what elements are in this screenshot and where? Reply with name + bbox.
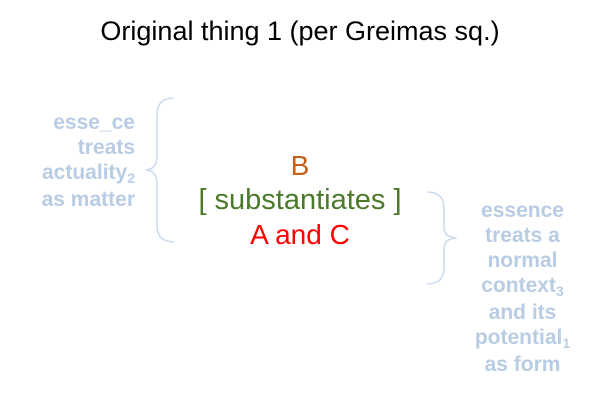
right-annotation-line-6-subscript: 1 xyxy=(562,335,570,351)
left-annotation-line-2: treats xyxy=(0,135,135,160)
right-annotation-line-2: treats a xyxy=(455,223,590,248)
right-annotation-block: essence treats a normal context3 and its… xyxy=(455,198,590,377)
formula-block: B [ substantiates ] A and C xyxy=(160,150,440,252)
left-annotation-block: esse_ce treats actuality2 as matter xyxy=(0,110,135,212)
left-annotation-line-3-subscript: 2 xyxy=(127,170,135,186)
left-annotation-line-4: as matter xyxy=(0,187,135,212)
right-annotation-line-4: context3 xyxy=(455,273,590,300)
right-annotation-line-3: normal xyxy=(455,248,590,273)
right-annotation-line-4-subscript: 3 xyxy=(556,283,564,299)
right-annotation-line-6: potential1 xyxy=(455,325,590,352)
right-annotation-line-1: essence xyxy=(455,198,590,223)
left-annotation-line-1: esse_ce xyxy=(0,110,135,135)
formula-term-top: B xyxy=(160,150,440,182)
right-annotation-line-6-text: potential xyxy=(475,326,563,349)
right-annotation-line-7: as form xyxy=(455,352,590,377)
left-annotation-line-3-text: actuality xyxy=(42,161,127,184)
formula-term-bottom: A and C xyxy=(160,218,440,252)
formula-relation: [ substantiates ] xyxy=(160,182,440,218)
page-title: Original thing 1 (per Greimas sq.) xyxy=(0,16,600,47)
curly-brace-right-icon xyxy=(425,190,459,286)
diagram-canvas: Original thing 1 (per Greimas sq.) esse_… xyxy=(0,0,600,400)
right-annotation-line-5: and its xyxy=(455,300,590,325)
right-annotation-line-4-text: context xyxy=(481,274,556,297)
left-annotation-line-3: actuality2 xyxy=(0,160,135,187)
